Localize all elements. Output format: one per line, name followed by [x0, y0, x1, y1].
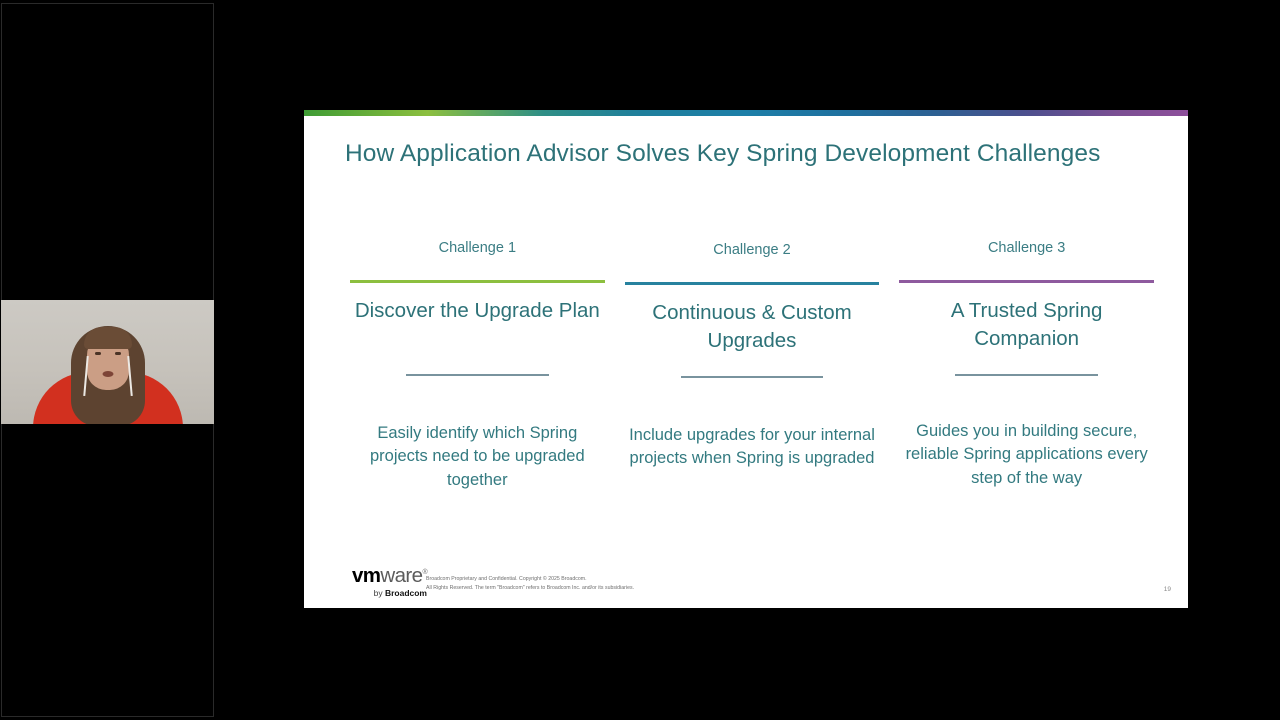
webcam-person-mouth: [102, 371, 113, 377]
vmware-wordmark: vmware®: [321, 566, 427, 587]
challenge-label-1: Challenge 1: [439, 241, 516, 258]
participant-rail: [1, 3, 214, 717]
challenge-columns: Challenge 1 Discover the Upgrade Plan Ea…: [340, 241, 1164, 492]
vmware-byline-brand: Broadcom: [385, 588, 427, 598]
vmware-wordmark-bold: vm: [352, 564, 380, 587]
challenge-column-3: Challenge 3 A Trusted Spring Companion G…: [889, 241, 1164, 492]
vmware-logo: vmware® by Broadcom: [321, 566, 427, 597]
challenge-accent-bar-1: [350, 280, 605, 283]
screen-root: How Application Advisor Solves Key Sprin…: [0, 0, 1280, 720]
speaker-webcam-thumbnail[interactable]: [1, 300, 214, 424]
challenge-label-2: Challenge 2: [713, 243, 790, 260]
webcam-person-eye-right: [115, 352, 121, 355]
challenge-body-3: Guides you in building secure, reliable …: [899, 420, 1154, 491]
presentation-slide[interactable]: How Application Advisor Solves Key Sprin…: [304, 110, 1188, 608]
challenge-heading-3: A Trusted Spring Companion: [899, 297, 1154, 355]
challenge-accent-bar-2: [625, 282, 880, 285]
vmware-byline: by Broadcom: [321, 589, 427, 598]
challenge-divider-3: [955, 374, 1098, 376]
webcam-person-eye-left: [95, 352, 101, 355]
legal-line-1: Broadcom Proprietary and Confidential. C…: [426, 575, 634, 583]
webcam-person-hair-top: [84, 327, 132, 349]
legal-line-2: All Rights Reserved. The term "Broadcom"…: [426, 584, 634, 592]
challenge-divider-2: [681, 376, 824, 378]
vmware-byline-prefix: by: [374, 588, 383, 598]
challenge-column-2: Challenge 2 Continuous & Custom Upgrades…: [615, 241, 890, 492]
challenge-body-1: Easily identify which Spring projects ne…: [350, 422, 605, 493]
legal-notice: Broadcom Proprietary and Confidential. C…: [426, 575, 634, 592]
challenge-heading-2: Continuous & Custom Upgrades: [625, 299, 880, 357]
challenge-label-3: Challenge 3: [988, 241, 1065, 258]
slide-footer: vmware® by Broadcom Broadcom Proprietary…: [304, 556, 1188, 608]
slide-page-number: 19: [1164, 586, 1171, 593]
vmware-wordmark-light: ware: [380, 564, 422, 587]
slide-title: How Application Advisor Solves Key Sprin…: [345, 140, 1155, 168]
challenge-heading-1: Discover the Upgrade Plan: [355, 297, 600, 355]
challenge-divider-1: [406, 374, 549, 376]
challenge-accent-bar-3: [899, 280, 1154, 283]
slide-accent-gradient-bar: [304, 110, 1188, 116]
challenge-column-1: Challenge 1 Discover the Upgrade Plan Ea…: [340, 241, 615, 492]
challenge-body-2: Include upgrades for your internal proje…: [625, 424, 880, 471]
